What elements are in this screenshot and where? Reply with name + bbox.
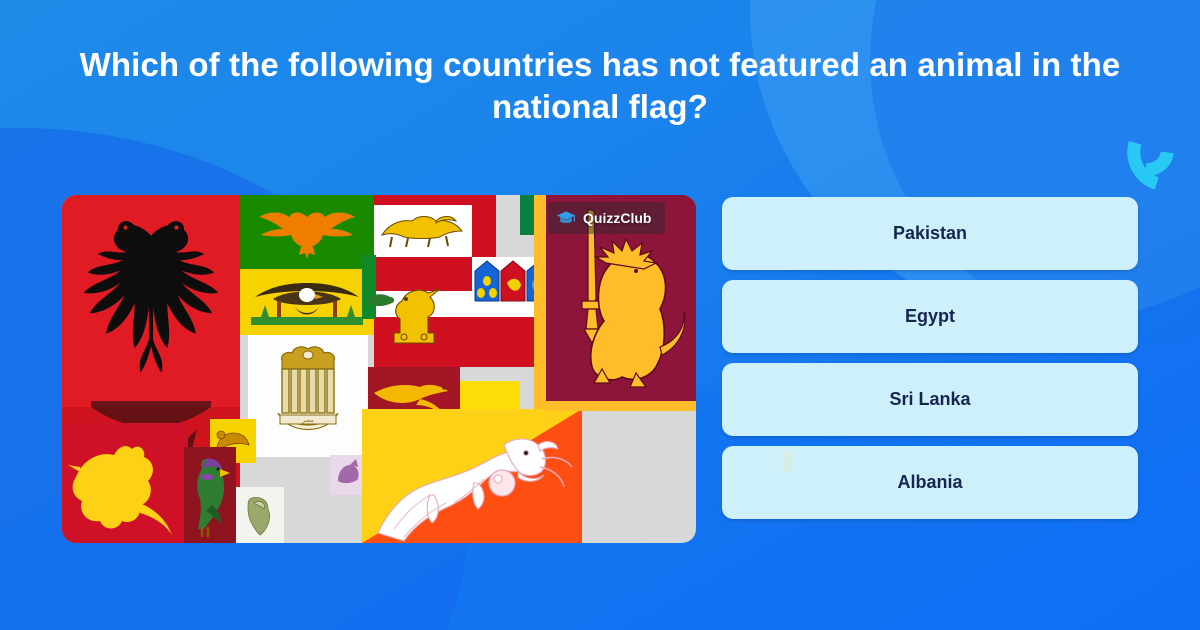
- answer-option-2-label: Egypt: [905, 306, 955, 327]
- watermark-label: QuizzClub: [583, 210, 651, 226]
- answer-option-1[interactable]: Pakistan: [722, 197, 1138, 270]
- watermark: QuizzClub: [548, 202, 665, 234]
- svg-text:مصر: مصر: [301, 418, 314, 424]
- answer-option-2[interactable]: Egypt: [722, 280, 1138, 353]
- answer-option-1-label: Pakistan: [893, 223, 967, 244]
- answer-option-3[interactable]: Sri Lanka: [722, 363, 1138, 436]
- flag-collage-image: مصر: [62, 195, 696, 543]
- quiz-card: Which of the following countries has not…: [0, 0, 1200, 630]
- answer-option-3-label: Sri Lanka: [889, 389, 970, 410]
- answer-option-4-label: Albania: [897, 472, 962, 493]
- graduation-cap-icon: [556, 210, 576, 226]
- page-title: Which of the following countries has not…: [60, 44, 1140, 127]
- question-image-card: مصر: [62, 195, 696, 543]
- drag-handle[interactable]: [781, 450, 793, 472]
